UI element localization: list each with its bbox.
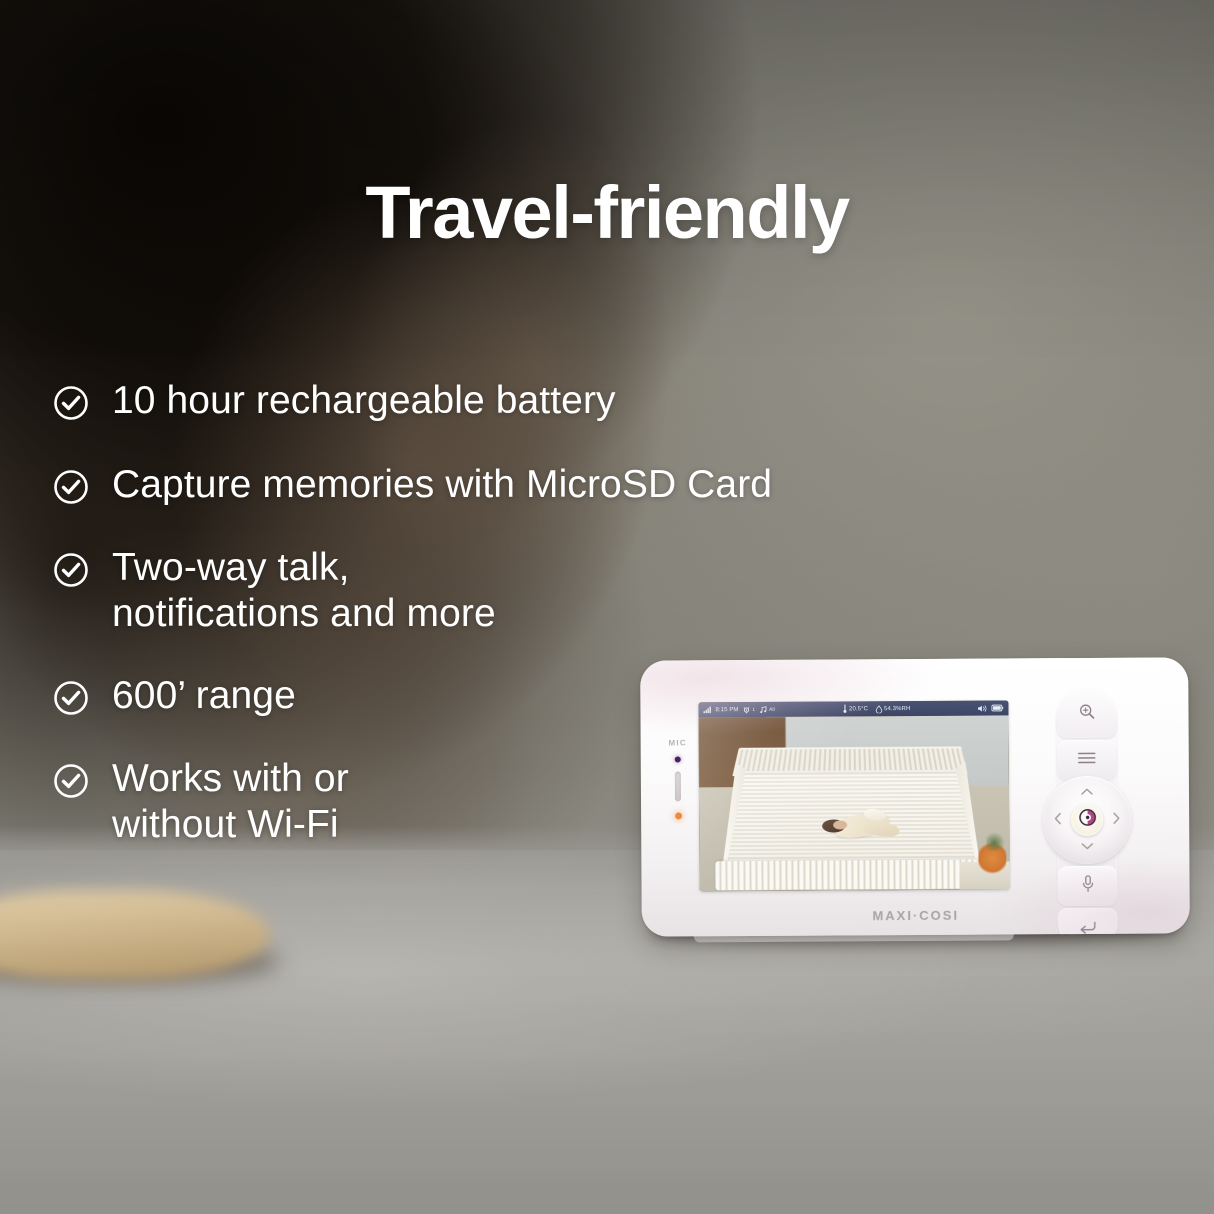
signal-bars-icon bbox=[703, 706, 711, 713]
speaker-icon bbox=[977, 704, 987, 712]
video-feed bbox=[699, 715, 1010, 891]
chevron-up-icon[interactable] bbox=[1081, 787, 1093, 798]
humidity-drop-icon bbox=[875, 705, 882, 713]
camera-count: 1 bbox=[752, 707, 755, 712]
crib-front-rail bbox=[716, 859, 987, 890]
check-circle-icon bbox=[52, 384, 90, 422]
list-item: 10 hour rechargeable battery bbox=[52, 378, 1002, 424]
mic-label: MIC bbox=[668, 738, 686, 747]
menu-button[interactable] bbox=[1057, 740, 1117, 780]
crib bbox=[720, 745, 981, 882]
chevron-right-icon[interactable] bbox=[1113, 812, 1120, 827]
feature-label: Two-way talk, notifications and more bbox=[112, 545, 496, 636]
mic-slot bbox=[675, 771, 681, 801]
marketing-image: Travel-friendly 10 hour rechargeable bat… bbox=[0, 0, 1214, 1214]
music-note-icon: All bbox=[759, 705, 775, 713]
baby-monitor-device: MIC 8:15 PM 1 bbox=[640, 657, 1190, 936]
microphone-icon bbox=[1081, 874, 1094, 897]
hamburger-menu-icon bbox=[1078, 751, 1096, 769]
nursery-decor bbox=[978, 841, 1006, 879]
list-item: Capture memories with MicroSD Card bbox=[52, 462, 1002, 508]
camera-power-icon bbox=[1078, 808, 1097, 832]
page-title: Travel-friendly bbox=[0, 176, 1214, 250]
dpad-center-button[interactable] bbox=[1071, 804, 1103, 836]
baby bbox=[821, 808, 896, 841]
chevron-left-icon[interactable] bbox=[1054, 813, 1061, 828]
status-led-purple bbox=[675, 756, 681, 762]
device-body: MIC 8:15 PM 1 bbox=[640, 657, 1190, 936]
feature-label: 10 hour rechargeable battery bbox=[112, 378, 616, 424]
talk-button[interactable] bbox=[1057, 866, 1117, 906]
crib-mattress bbox=[726, 770, 977, 867]
magnifier-plus-icon bbox=[1078, 703, 1095, 725]
check-circle-icon bbox=[52, 468, 90, 506]
charging-led-amber bbox=[675, 812, 682, 819]
feature-label: 600’ range bbox=[112, 673, 296, 719]
humidity-reading: 54.3%RH bbox=[875, 705, 910, 713]
temperature-reading: 20.5°C bbox=[842, 704, 868, 713]
directional-pad[interactable] bbox=[1043, 776, 1132, 865]
battery-icon bbox=[991, 704, 1003, 711]
check-circle-icon bbox=[52, 551, 90, 589]
check-circle-icon bbox=[52, 679, 90, 717]
device-screen[interactable]: 8:15 PM 1 All bbox=[698, 700, 1009, 891]
control-panel bbox=[1040, 688, 1133, 904]
feature-label: Capture memories with MicroSD Card bbox=[112, 462, 772, 508]
check-circle-icon bbox=[52, 762, 90, 800]
humidity-value: 54.3%RH bbox=[884, 706, 910, 712]
thermometer-icon bbox=[842, 704, 847, 713]
temperature-value: 20.5°C bbox=[849, 706, 868, 712]
chevron-down-icon[interactable] bbox=[1081, 842, 1093, 853]
status-time: 8:15 PM bbox=[715, 707, 738, 713]
feature-label: Works with or without Wi-Fi bbox=[112, 756, 349, 847]
camera-icon: 1 bbox=[742, 705, 755, 713]
list-item: Two-way talk, notifications and more bbox=[52, 545, 1002, 636]
mic-column: MIC bbox=[655, 738, 701, 819]
